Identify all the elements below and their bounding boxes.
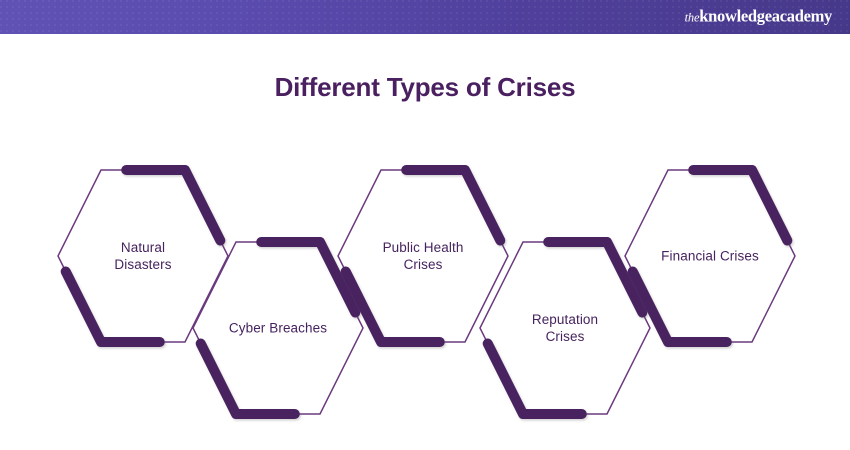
hexagon-chain-svg — [0, 140, 850, 430]
brand-logo: theknowledgeacademy — [685, 9, 832, 26]
brand-name: knowledgeacademy — [699, 7, 832, 26]
brand-prefix: the — [685, 11, 700, 25]
hexagon-group — [58, 170, 795, 414]
header-band: theknowledgeacademy — [0, 0, 850, 34]
infographic-page: theknowledgeacademy Different Types of C… — [0, 0, 850, 450]
page-title: Different Types of Crises — [0, 72, 850, 103]
hexagon-chain-diagram: NaturalDisastersCyber BreachesPublic Hea… — [0, 140, 850, 430]
